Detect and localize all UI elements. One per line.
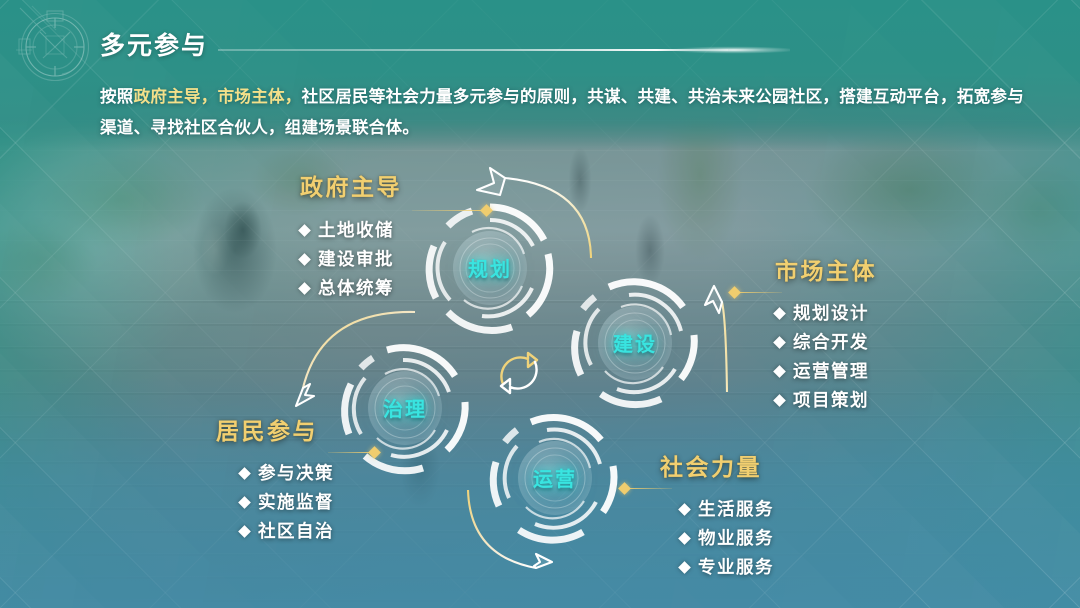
lead-part-2: 社区居民等社会力量多元参与的原则，共谋、共建、共治未来公园社区，搭建互动平台， <box>302 88 957 106</box>
node-operation-core <box>518 441 592 515</box>
group-market-list: 规划设计 综合开发 运营管理 项目策划 <box>775 299 877 415</box>
list-item-label: 实施监督 <box>258 488 334 517</box>
circular-compass-emblem-icon <box>10 2 96 88</box>
group-residents: 居民参与 参与决策 实施监督 社区自治 <box>216 412 334 546</box>
list-item: 生活服务 <box>680 495 774 524</box>
list-item: 社区自治 <box>240 517 334 546</box>
list-item: 规划设计 <box>775 299 877 328</box>
node-planning-core <box>453 231 527 305</box>
title-divider-line <box>218 49 728 51</box>
diamond-bullet-icon <box>773 307 786 320</box>
diamond-bullet-icon <box>238 525 251 538</box>
recycle-cycle-arrows-icon <box>488 342 550 404</box>
node-construction-core <box>598 306 672 380</box>
lead-paragraph: 按照政府主导，市场主体，社区居民等社会力量多元参与的原则，共谋、共建、共治未来公… <box>100 82 1030 144</box>
diamond-bullet-icon <box>773 336 786 349</box>
group-market: 市场主体 规划设计 综合开发 运营管理 项目策划 <box>775 252 877 415</box>
node-governance-core <box>368 371 442 445</box>
node-construction[interactable]: 建设 <box>565 273 705 413</box>
list-item: 项目策划 <box>775 386 877 415</box>
list-item-label: 物业服务 <box>698 524 774 553</box>
list-item-label: 总体统筹 <box>318 274 394 303</box>
group-society: 社会力量 生活服务 物业服务 专业服务 <box>660 448 774 582</box>
list-item-label: 土地收储 <box>318 216 394 245</box>
list-item-label: 建设审批 <box>318 245 394 274</box>
list-item: 建设审批 <box>300 245 402 274</box>
diamond-bullet-icon <box>298 253 311 266</box>
node-planning[interactable]: 规划 <box>420 198 560 338</box>
group-government-heading: 政府主导 <box>300 168 402 202</box>
list-item-label: 生活服务 <box>698 495 774 524</box>
group-society-list: 生活服务 物业服务 专业服务 <box>660 495 774 582</box>
diamond-bullet-icon <box>678 561 691 574</box>
diamond-bullet-icon <box>773 365 786 378</box>
node-governance[interactable]: 治理 <box>335 338 475 478</box>
page-title: 多元参与 <box>100 26 208 62</box>
list-item: 参与决策 <box>240 459 334 488</box>
list-item: 土地收储 <box>300 216 402 245</box>
list-item-label: 专业服务 <box>698 553 774 582</box>
list-item-label: 参与决策 <box>258 459 334 488</box>
slide-root: 多元参与 按照政府主导，市场主体，社区居民等社会力量多元参与的原则，共谋、共建、… <box>0 0 1080 608</box>
list-item-label: 项目策划 <box>793 386 869 415</box>
group-society-heading: 社会力量 <box>660 448 774 482</box>
lead-part-1: 按照 <box>100 88 134 106</box>
list-item: 综合开发 <box>775 328 877 357</box>
list-item: 总体统筹 <box>300 274 402 303</box>
list-item-label: 运营管理 <box>793 357 869 386</box>
group-government-list: 土地收储 建设审批 总体统筹 <box>300 216 402 303</box>
group-residents-list: 参与决策 实施监督 社区自治 <box>216 459 334 546</box>
diamond-bullet-icon <box>238 496 251 509</box>
list-item: 专业服务 <box>680 553 774 582</box>
diamond-bullet-icon <box>298 282 311 295</box>
diamond-bullet-icon <box>773 394 786 407</box>
list-item-label: 规划设计 <box>793 299 869 328</box>
diamond-bullet-icon <box>298 224 311 237</box>
list-item: 实施监督 <box>240 488 334 517</box>
list-item-label: 社区自治 <box>258 517 334 546</box>
diamond-bullet-icon <box>238 467 251 480</box>
group-market-heading: 市场主体 <box>775 252 877 286</box>
list-item: 物业服务 <box>680 524 774 553</box>
lead-highlight: 政府主导，市场主体， <box>134 88 302 106</box>
diamond-bullet-icon <box>678 503 691 516</box>
list-item-label: 综合开发 <box>793 328 869 357</box>
diamond-bullet-icon <box>678 532 691 545</box>
list-item: 运营管理 <box>775 357 877 386</box>
group-government: 政府主导 土地收储 建设审批 总体统筹 <box>300 168 402 303</box>
group-residents-heading: 居民参与 <box>216 412 334 446</box>
node-operation[interactable]: 运营 <box>485 408 625 548</box>
